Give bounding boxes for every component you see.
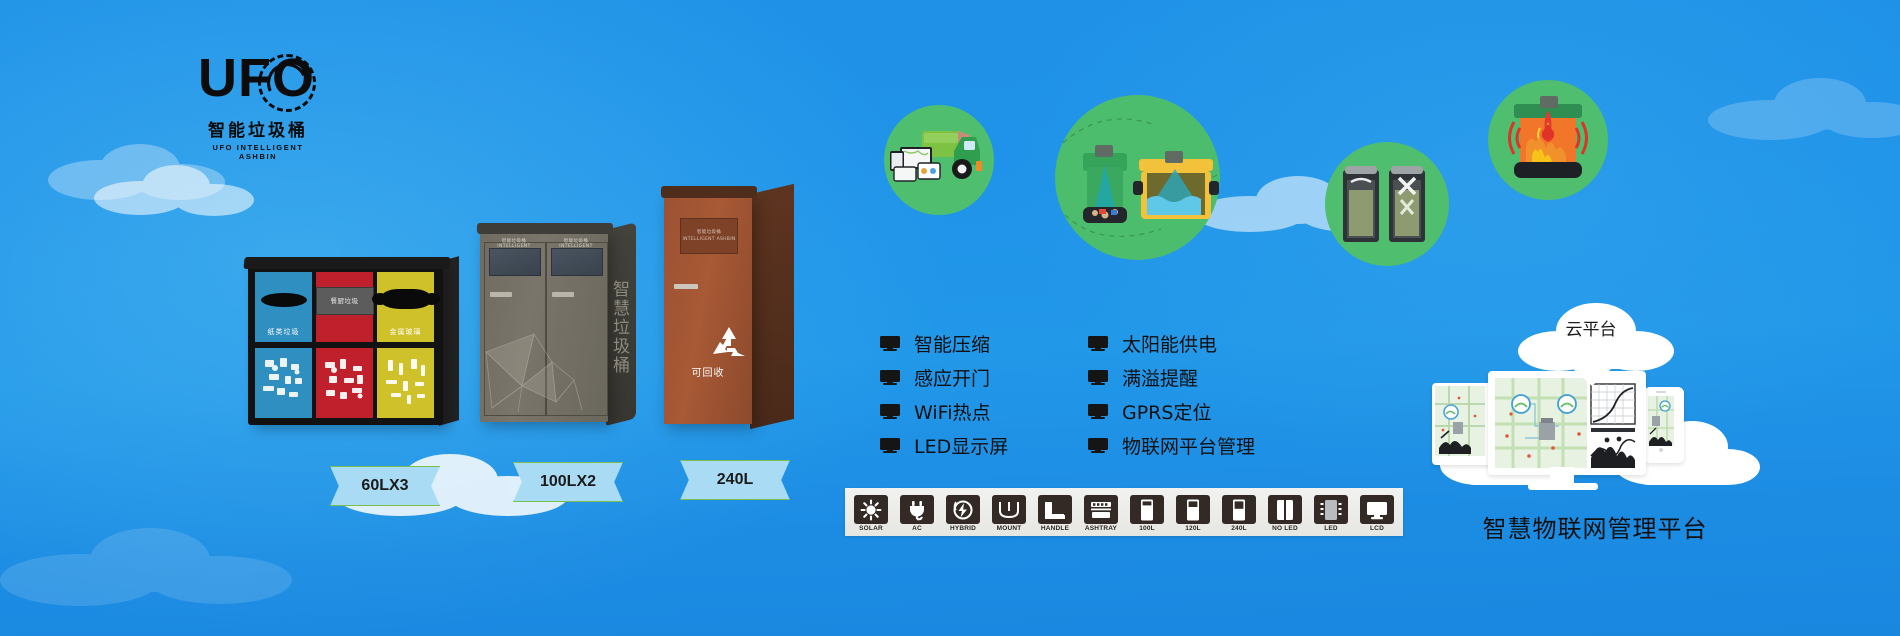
no-led-icon [1268,495,1302,524]
paper-litter-graphic [255,348,312,418]
sun-icon [854,495,888,524]
bin60-compartment-metal-glass: 金属玻璃 [377,272,434,418]
smartphone-device [1644,387,1684,463]
monitor-icon [880,404,900,419]
ashtray-icon [1084,495,1118,524]
cloud-decor-bottom-left [0,500,300,620]
feature-circle-bag-tying [1325,142,1449,266]
bin60-compartment-paper: 纸类垃圾 [255,272,312,418]
feature-item: WiFi热点 [880,394,1008,428]
metal-glass-litter-graphic [377,348,434,418]
bin100-top-cap [477,223,613,234]
logo-english-name: UFO INTELLIGENT ASHBIN [198,143,318,161]
spec-icon-label: LCD [1370,525,1384,532]
capacity-badge-100lx2: 100LX2 [513,462,623,502]
spec-icon-strip: SOLAR AC HYBRID [845,488,1403,536]
feature-item: LED显示屏 [880,428,1008,462]
feature-circle-collection [884,105,994,215]
bin60-metal-upper: 金属玻璃 [377,272,434,342]
spec-icon-ac[interactable]: AC [897,492,937,532]
monitor-screen-content [1495,378,1639,468]
feature-item: 智能压缩 [880,326,1008,360]
spec-icon-label: 120L [1185,525,1201,532]
bin60-metal-label: 金属玻璃 [377,327,434,337]
bin-bag-compactor-icon [1055,95,1220,260]
spec-icon-handle[interactable]: HANDLE [1035,492,1075,532]
bin60-kitchen-lower [316,348,373,418]
bin240-top-cap [661,186,757,198]
spec-icon-label: MOUNT [997,525,1022,532]
lcd-icon [1360,495,1394,524]
monitor-icon [880,336,900,351]
product-bin-60lx3: 纸类垃圾 餐厨垃圾 [248,265,443,425]
monitor-icon [1088,336,1108,351]
spec-icon-mount[interactable]: MOUNT [989,492,1029,532]
logo-chinese-name: 智能垃圾桶 [198,116,318,141]
bin100-left-handle [490,292,512,297]
spec-icon-100l[interactable]: 100L [1127,492,1167,532]
cloud-decor-far-right [1700,60,1900,150]
spec-icon-label: AC [912,525,922,532]
led-icon [1314,495,1348,524]
bin60-metal-lower [377,348,434,418]
tablet-screen-content [1435,386,1485,456]
monitor-icon [1088,438,1108,453]
hybrid-power-icon [946,495,980,524]
bin60-paper-lower [255,348,312,418]
bin100-right-handle [552,292,574,297]
feature-label: GPRS定位 [1122,398,1211,425]
spec-icon-label: HANDLE [1041,525,1069,532]
feature-label: 满溢提醒 [1122,364,1198,391]
monitor-icon [1088,404,1108,419]
feature-item: 满溢提醒 [1088,360,1255,394]
iot-platform-illustration: 云平台 [1430,295,1760,545]
monitor-base [1528,483,1598,490]
bin60-top-cap [243,257,450,269]
spec-icon-label: SOLAR [859,525,883,532]
spec-icon-120l[interactable]: 120L [1173,492,1213,532]
garbage-truck-icon [884,105,994,215]
feature-label: 物联网平台管理 [1122,432,1255,459]
logo-ring-icon [258,54,316,112]
bin240-display-panel: 智能垃圾桶 INTELLIGENT ASHBIN [680,218,738,254]
bin240-handle [674,284,698,289]
bin240-recycle-label: 可回收 [664,364,752,379]
bin-120l-icon [1176,495,1210,524]
spec-icon-label: 240L [1231,525,1247,532]
handle-icon [1038,495,1072,524]
monitor-icon [880,370,900,385]
power-plug-icon [900,495,934,524]
product-bin-100lx2: 智能垃圾桶 INTELLIGENT ASHBIN 智能垃圾桶 INTELLIGE… [480,232,635,422]
feature-circle-compaction [1055,95,1220,260]
spec-icon-label: HYBRID [950,525,976,532]
spec-icon-ashtray[interactable]: ASHTRAY [1081,492,1121,532]
bin100-left-display [489,248,541,276]
feature-circle-fire-alarm [1488,80,1608,200]
spec-icon-hybrid[interactable]: HYBRID [943,492,983,532]
feature-item: 物联网平台管理 [1088,428,1255,462]
capacity-badge-100lx2-label: 100LX2 [540,473,596,491]
banner-stage: UFO 智能垃圾桶 UFO INTELLIGENT ASHBIN 纸类垃圾 [0,0,1900,636]
spec-icon-led[interactable]: LED [1311,492,1351,532]
spec-icon-label: NO LED [1272,525,1298,532]
bin-240l-icon [1222,495,1256,524]
download-arrow-icon [1569,351,1615,387]
capacity-badge-60lx3: 60LX3 [330,466,440,506]
feature-label: LED显示屏 [914,432,1008,459]
cloud-platform-label: 云平台 [1526,315,1656,340]
bin100-right-display [551,248,603,276]
feature-column-left: 智能压缩 感应开门 WiFi热点 LED显示屏 [880,326,1008,462]
recycle-icon [709,324,749,362]
kitchen-litter-graphic [316,348,373,418]
bottle-slot-icon [380,289,432,309]
spec-icon-label: LED [1324,525,1338,532]
platform-caption: 智慧物联网管理平台 [1410,509,1780,544]
feature-label: 智能压缩 [914,330,990,357]
bin60-paper-upper: 纸类垃圾 [255,272,312,342]
feature-label: WiFi热点 [914,398,990,425]
bin240-panel-caption: 智能垃圾桶 INTELLIGENT ASHBIN [681,219,737,243]
tablet-device [1432,383,1494,465]
spec-icon-no-led[interactable]: NO LED [1265,492,1305,532]
bin60-compartment-kitchen: 餐厨垃圾 [316,272,373,418]
capacity-badge-240l: 240L [680,460,790,500]
feature-item: 太阳能供电 [1088,326,1255,360]
burning-bin-alarm-icon [1488,80,1608,200]
bin240-side-panel [750,184,794,429]
capacity-badge-240l-label: 240L [717,471,753,489]
monitor-icon [880,438,900,453]
bin100-vertical-text: 智慧垃圾桶 [607,280,629,375]
brand-logo: UFO 智能垃圾桶 UFO INTELLIGENT ASHBIN [198,52,318,152]
screen-panel-icon: 餐厨垃圾 [316,287,374,315]
feature-column-right: 太阳能供电 满溢提醒 GPRS定位 物联网平台管理 [1088,326,1255,462]
feature-item: GPRS定位 [1088,394,1255,428]
feature-label: 太阳能供电 [1122,330,1217,357]
spec-icon-lcd[interactable]: LCD [1357,492,1397,532]
wall-mount-icon [992,495,1026,524]
bin60-kitchen-upper: 餐厨垃圾 [316,272,373,342]
spec-icon-solar[interactable]: SOLAR [851,492,891,532]
desktop-monitor [1488,371,1646,475]
feature-label: 感应开门 [914,364,990,391]
two-bins-bag-knot-icon [1325,142,1449,266]
spec-icon-label: 100L [1139,525,1155,532]
monitor-icon [1088,370,1108,385]
capacity-badge-60lx3-label: 60LX3 [361,477,408,495]
feature-item: 感应开门 [880,360,1008,394]
oval-slot-icon [261,293,307,307]
product-bin-240l: 智能垃圾桶 INTELLIGENT ASHBIN 可回收 [664,196,794,424]
phone-screen-content [1647,390,1675,454]
logo-mark: UFO [198,52,318,114]
spec-icon-240l[interactable]: 240L [1219,492,1259,532]
bin60-paper-label: 纸类垃圾 [255,327,312,337]
bin60-kitchen-screen-text: 餐厨垃圾 [317,288,373,314]
bin-100l-icon [1130,495,1164,524]
spec-icon-label: ASHTRAY [1085,525,1117,532]
bin100-geometric-art [482,316,592,416]
